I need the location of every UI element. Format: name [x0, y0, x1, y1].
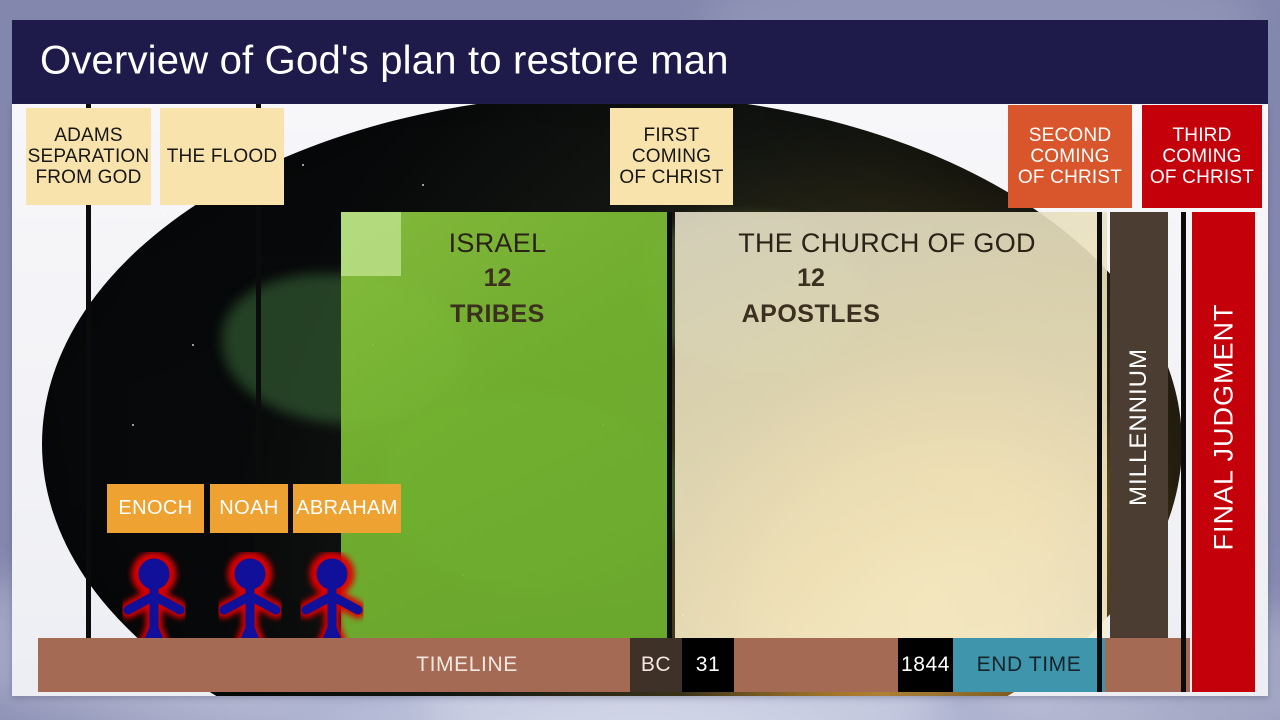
callout-line: OF CHRIST	[619, 167, 723, 188]
divider-line-third-coming	[1181, 212, 1186, 642]
callout-line: COMING	[632, 146, 711, 167]
callout-adams-separation[interactable]: ADAMS SEPARATION FROM GOD	[26, 108, 151, 205]
final-judgment-label: FINAL JUDGMENT	[1208, 303, 1239, 550]
timeline-31-label: 31	[696, 653, 721, 677]
title-bar: Overview of God's plan to restore man	[12, 20, 1268, 104]
timeline-1844-label: 1844	[901, 653, 950, 677]
church-subtitle: APOSTLES	[595, 300, 1027, 329]
callout-line: SEPARATION	[28, 146, 150, 167]
timeline-label: TIMELINE	[416, 653, 518, 677]
tag-noah[interactable]: NOAH	[210, 484, 288, 533]
divider-line-second-coming	[1097, 212, 1102, 642]
era-block-church: THE CHURCH OF GOD 12 APOSTLES	[675, 212, 1107, 642]
callout-line: THE FLOOD	[167, 146, 278, 167]
judgment-bar-timeline-extension	[1192, 638, 1255, 692]
callout-line: SECOND	[1029, 125, 1112, 146]
israel-heading: ISRAEL	[333, 228, 662, 259]
tag-noah-label: NOAH	[219, 497, 278, 520]
callout-line: THIRD	[1172, 125, 1231, 146]
callout-line: COMING	[1162, 146, 1241, 167]
slide-canvas: Overview of God's plan to restore man	[0, 0, 1280, 720]
callout-line: OF CHRIST	[1018, 167, 1122, 188]
callout-line: ADAMS	[54, 125, 123, 146]
callout-line: FIRST	[644, 125, 700, 146]
church-heading: THE CHURCH OF GOD	[671, 228, 1103, 259]
callout-the-flood[interactable]: THE FLOOD	[160, 108, 284, 205]
callout-second-coming[interactable]: SECOND COMING OF CHRIST	[1008, 105, 1132, 208]
timeline-bc-label: BC	[641, 653, 671, 677]
timeline-bar: TIMELINE BC 31 1844 END TIME	[38, 638, 1106, 692]
callout-first-coming[interactable]: FIRST COMING OF CHRIST	[610, 108, 733, 205]
bar-final-judgment: FINAL JUDGMENT	[1192, 212, 1255, 642]
timeline-segment-1844: 1844	[898, 638, 953, 692]
divider-line-first-coming	[667, 212, 672, 642]
timeline-label-segment: TIMELINE	[38, 638, 656, 692]
tag-abraham[interactable]: ABRAHAM	[293, 484, 401, 533]
tag-enoch-label: ENOCH	[118, 497, 192, 520]
timeline-segment-31: 31	[682, 638, 734, 692]
bar-millennium: MILLENNIUM	[1110, 212, 1168, 642]
callout-line: COMING	[1030, 146, 1109, 167]
callout-third-coming[interactable]: THIRD COMING OF CHRIST	[1142, 105, 1262, 208]
timeline-segment-bc: BC	[630, 638, 682, 692]
tag-abraham-label: ABRAHAM	[296, 497, 398, 520]
callout-line: OF CHRIST	[1150, 167, 1254, 188]
divider-line-timeline-a	[1097, 638, 1102, 692]
divider-line-timeline-b	[1181, 638, 1186, 692]
timeline-stub	[1106, 638, 1190, 692]
church-number: 12	[595, 264, 1027, 293]
timeline-end-time-label: END TIME	[977, 653, 1082, 677]
tag-enoch[interactable]: ENOCH	[107, 484, 204, 533]
page-title: Overview of God's plan to restore man	[40, 39, 729, 84]
timeline-segment-end-time: END TIME	[953, 638, 1105, 692]
millennium-label: MILLENNIUM	[1125, 348, 1153, 506]
callout-line: FROM GOD	[35, 167, 141, 188]
